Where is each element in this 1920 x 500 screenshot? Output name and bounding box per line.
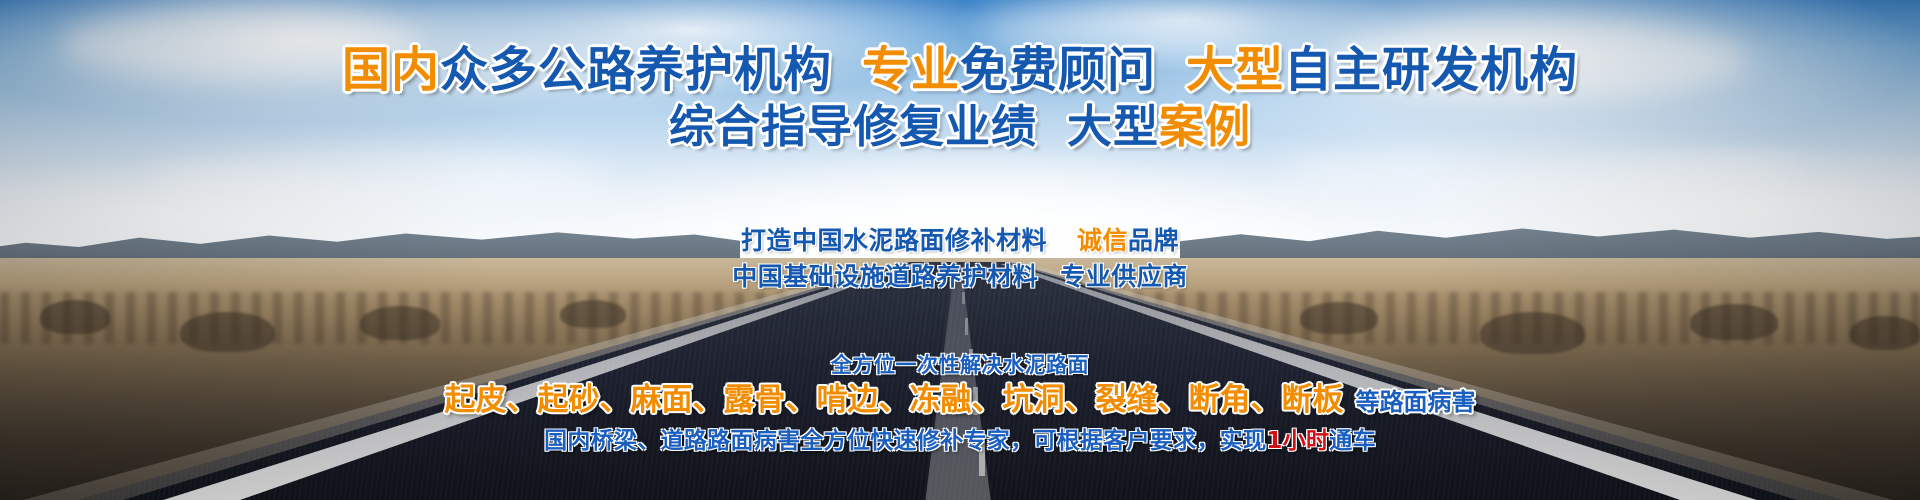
headline-seg: 国内 <box>342 42 440 98</box>
subheadline-line-2: 中国基础设施道路养护材料专业供应商 <box>0 264 1920 289</box>
bottom-line-1: 全方位一次性解决水泥路面 <box>0 355 1920 376</box>
headline-line-2: 综合指导修复业绩大型案例 <box>0 104 1920 149</box>
headline-seg: 众多公路养护机构 <box>440 42 832 98</box>
subheadline-seg: 专业供应商 <box>1060 262 1188 291</box>
subheadline-seg: 品牌 <box>1128 226 1179 255</box>
subheadline-line-1: 打造中国水泥路面修补材料诚信品牌 <box>0 228 1920 253</box>
headline-seg: 大型 <box>1186 42 1284 98</box>
banner-text-layer: 国内众多公路养护机构专业免费顾问大型自主研发机构 综合指导修复业绩大型案例 打造… <box>0 0 1920 500</box>
headline-line-1: 国内众多公路养护机构专业免费顾问大型自主研发机构 <box>0 46 1920 94</box>
bottom-line-2: 起皮、起砂、麻面、露骨、啃边、冻融、坑洞、裂缝、断角、断板等路面病害 <box>0 385 1920 416</box>
subheadline-seg: 诚信 <box>1077 226 1128 255</box>
bottom-seg-highlight: 1小时 <box>1266 428 1329 454</box>
subheadline-seg: 打造中国水泥路面修补材料 <box>741 226 1047 255</box>
headline-seg: 综合指导修复业绩 <box>669 100 1037 153</box>
headline-seg: 大型 <box>1067 100 1159 153</box>
bottom-seg: 通车 <box>1329 428 1376 454</box>
headline-seg: 免费顾问 <box>960 42 1156 98</box>
bottom-seg: 全方位一次性解决水泥路面 <box>831 353 1089 377</box>
headline-seg: 案例 <box>1159 100 1251 153</box>
headline-seg: 自主研发机构 <box>1284 42 1578 98</box>
bottom-line-3: 国内桥梁、道路路面病害全方位快速修补专家，可根据客户要求，实现1小时通车 <box>0 430 1920 453</box>
promo-banner: 国内众多公路养护机构专业免费顾问大型自主研发机构 综合指导修复业绩大型案例 打造… <box>0 0 1920 500</box>
subheadline-seg: 中国基础设施道路养护材料 <box>732 262 1038 291</box>
bottom-seg-defects: 起皮、起砂、麻面、露骨、啃边、冻融、坑洞、裂缝、断角、断板 <box>445 382 1344 418</box>
bottom-seg: 国内桥梁、道路路面病害全方位快速修补专家，可根据客户要求，实现 <box>544 428 1266 454</box>
bottom-seg: 等路面病害 <box>1356 388 1476 416</box>
headline-seg: 专业 <box>862 42 960 98</box>
